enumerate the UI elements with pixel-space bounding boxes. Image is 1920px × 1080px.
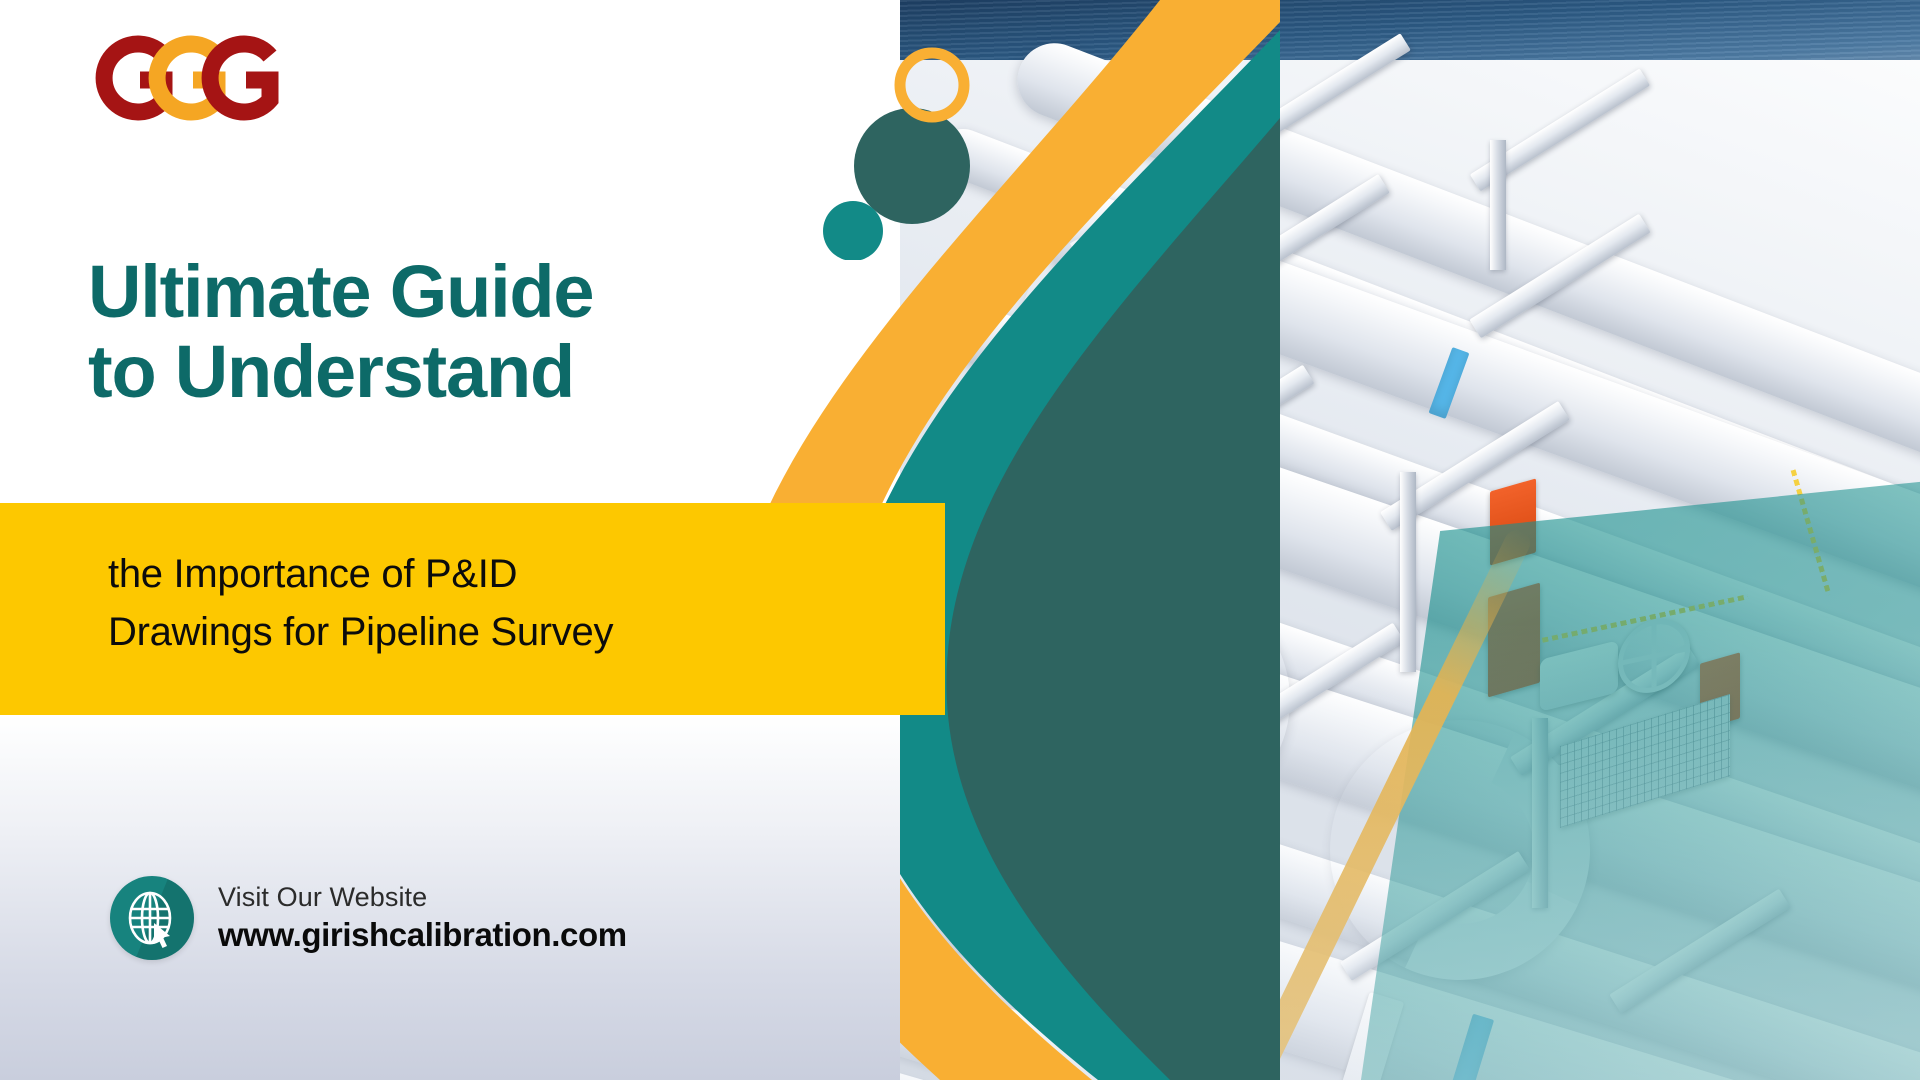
headline-line-1: Ultimate Guide [88, 250, 593, 333]
globe-cursor-icon [110, 876, 194, 960]
headline-line-2: to Understand [88, 332, 848, 412]
decor-shapes [820, 40, 1020, 260]
website-text-block: Visit Our Website www.girishcalibration.… [218, 881, 627, 955]
visit-label: Visit Our Website [218, 881, 627, 915]
website-cta[interactable]: Visit Our Website www.girishcalibration.… [110, 876, 627, 960]
page-subtitle: the Importance of P&ID Drawings for Pipe… [108, 545, 908, 662]
support-column [1490, 140, 1506, 270]
globe-glyph-icon [110, 876, 194, 960]
company-logo[interactable] [88, 26, 318, 130]
poster-canvas: Ultimate Guide to Understand the Importa… [0, 0, 1920, 1080]
orange-outline-circle-icon [900, 53, 964, 117]
subheadline-line-1: the Importance of P&ID [108, 552, 517, 596]
website-url[interactable]: www.girishcalibration.com [218, 915, 627, 955]
page-title: Ultimate Guide to Understand [88, 252, 848, 412]
subheadline-line-2: Drawings for Pipeline Survey [108, 603, 908, 661]
dark-teal-filled-circle-icon [854, 108, 970, 224]
support-column [1400, 472, 1416, 672]
